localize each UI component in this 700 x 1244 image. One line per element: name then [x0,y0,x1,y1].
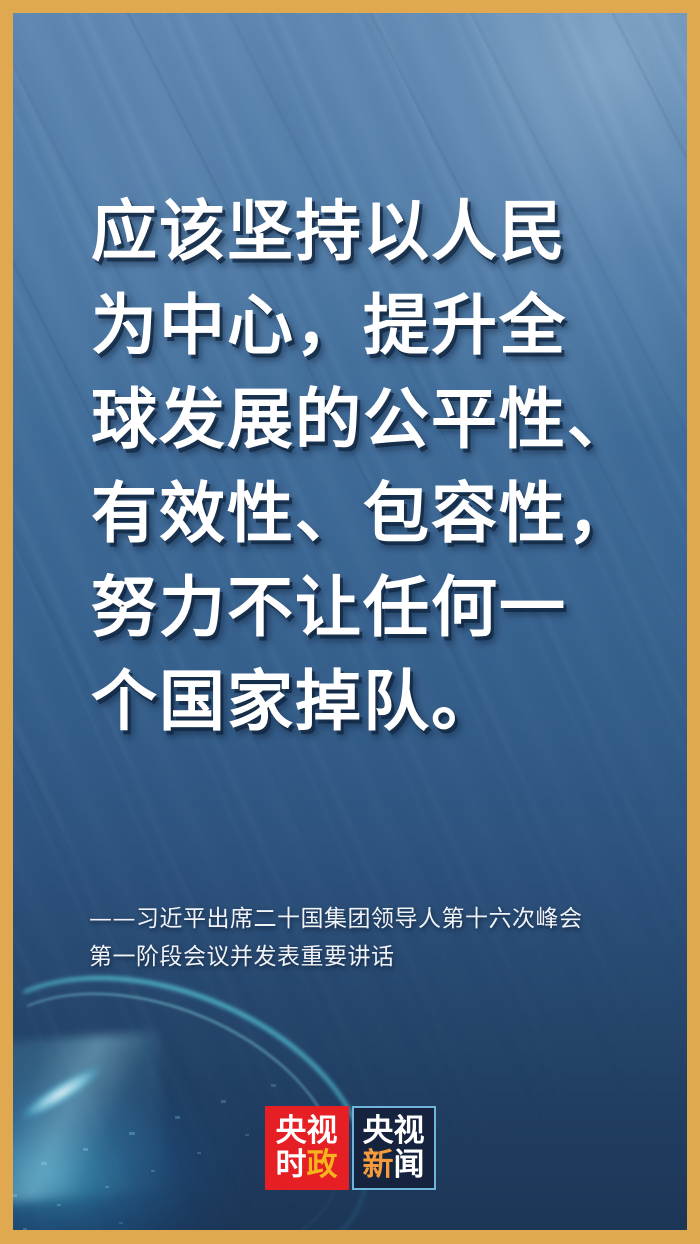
poster-frame: 应该坚持以人民 为中心，提升全 球发展的公平性、 有效性、包容性， 努力不让任何… [0,0,700,1244]
headline-line-3: 球发展的公平性、 [91,373,661,467]
headline-line-2: 为中心，提升全 [91,279,661,373]
attribution-line-1: ——习近平出席二十国集团领导人第十六次峰会 [89,900,649,938]
headline-line-6: 个国家掉队。 [91,655,661,749]
headline-line-5: 努力不让任何一 [91,561,661,655]
logo-xinwen-top-text: 央视 [363,1114,425,1148]
attribution-block: ——习近平出席二十国集团领导人第十六次峰会 第一阶段会议并发表重要讲话 [89,900,649,976]
logo-xinwen-top-row: 央视 [363,1114,425,1148]
headline-quote: 应该坚持以人民 为中心，提升全 球发展的公平性、 有效性、包容性， 努力不让任何… [91,185,661,749]
logo-strip: 央视 时 政 央视 新 闻 [13,1106,687,1190]
logo-shizheng-top-row: 央视 [276,1114,338,1148]
logo-xinwen-bottom-char-2: 闻 [394,1148,425,1182]
poster-canvas: 应该坚持以人民 为中心，提升全 球发展的公平性、 有效性、包容性， 努力不让任何… [13,13,687,1230]
logo-shizheng-top-text: 央视 [276,1114,338,1148]
logo-xinwen-bottom-row: 新 闻 [363,1148,425,1182]
logo-shizheng-bottom-char-2: 政 [307,1148,338,1182]
logo-shizheng-bottom-char-1: 时 [276,1148,307,1182]
headline-line-1: 应该坚持以人民 [91,185,661,279]
logo-cctv-xinwen[interactable]: 央视 新 闻 [352,1106,436,1190]
logo-shizheng-bottom-row: 时 政 [276,1148,338,1182]
attribution-line-2: 第一阶段会议并发表重要讲话 [89,938,649,976]
logo-xinwen-bottom-char-1: 新 [363,1148,394,1182]
logo-cctv-shizheng[interactable]: 央视 时 政 [265,1106,349,1190]
headline-line-4: 有效性、包容性， [91,467,661,561]
